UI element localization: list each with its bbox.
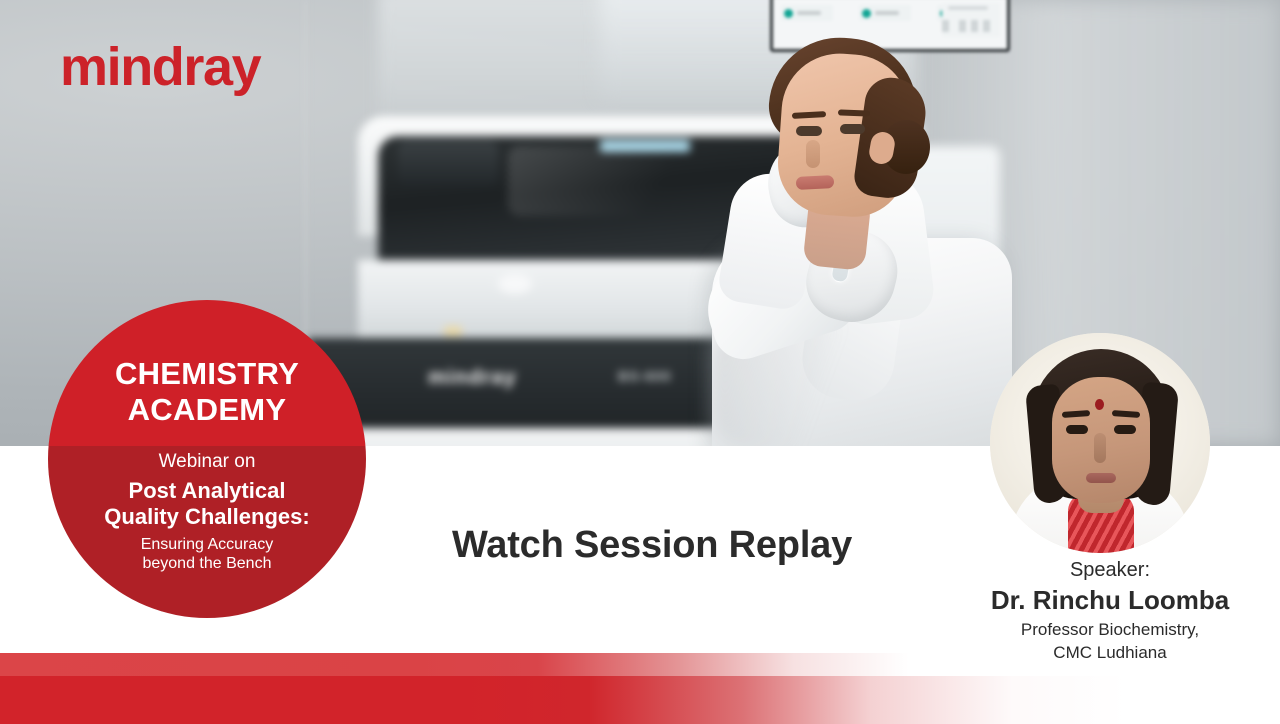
avatar-eye-right bbox=[1114, 425, 1136, 434]
lips bbox=[796, 175, 835, 190]
badge-topic-line-1: Post Analytical bbox=[104, 478, 309, 504]
badge-content: CHEMISTRY ACADEMY Webinar on Post Analyt… bbox=[48, 300, 366, 618]
badge-subtitle: Ensuring Accuracy beyond the Bench bbox=[141, 535, 274, 574]
chemistry-academy-badge: CHEMISTRY ACADEMY Webinar on Post Analyt… bbox=[48, 300, 366, 618]
lab-scientist bbox=[530, 0, 1050, 446]
speaker-role-line-1: Professor Biochemistry, bbox=[960, 619, 1260, 641]
watch-session-replay-title: Watch Session Replay bbox=[452, 524, 852, 567]
bottom-accent-bar-dark bbox=[0, 676, 1280, 724]
avatar-nose bbox=[1094, 433, 1106, 463]
avatar-lips bbox=[1086, 473, 1116, 483]
eyebrow-right bbox=[838, 109, 870, 116]
speaker-name: Dr. Rinchu Loomba bbox=[960, 584, 1260, 618]
badge-subtitle-line-2: beyond the Bench bbox=[141, 554, 274, 574]
analyzer-hood-notch bbox=[398, 140, 498, 186]
speaker-label: Speaker: bbox=[960, 558, 1260, 583]
badge-topic: Post Analytical Quality Challenges: bbox=[104, 478, 309, 530]
badge-title-line-1: CHEMISTRY bbox=[115, 356, 299, 392]
webinar-banner: mindray BS-600 bbox=[0, 0, 1280, 724]
badge-topic-line-2: Quality Challenges: bbox=[104, 504, 309, 530]
eye-left bbox=[796, 126, 822, 136]
badge-subtitle-line-1: Ensuring Accuracy bbox=[141, 535, 274, 555]
nose bbox=[806, 140, 820, 168]
badge-title-line-2: ACADEMY bbox=[115, 392, 299, 428]
mindray-logo: mindray bbox=[60, 40, 260, 94]
avatar-eye-left bbox=[1066, 425, 1088, 434]
speaker-avatar bbox=[990, 333, 1210, 553]
analyzer-deck-sample bbox=[444, 326, 462, 336]
eye-right bbox=[840, 124, 865, 134]
analyzer-wordmark: mindray bbox=[428, 366, 517, 390]
analyzer-deck-sample bbox=[498, 274, 532, 294]
badge-title: CHEMISTRY ACADEMY bbox=[115, 356, 299, 428]
speaker-info: Speaker: Dr. Rinchu Loomba Professor Bio… bbox=[960, 558, 1260, 665]
avatar-bindi bbox=[1095, 399, 1104, 410]
speaker-role-line-2: CMC Ludhiana bbox=[960, 642, 1260, 664]
badge-webinar-prefix: Webinar on bbox=[159, 452, 256, 473]
